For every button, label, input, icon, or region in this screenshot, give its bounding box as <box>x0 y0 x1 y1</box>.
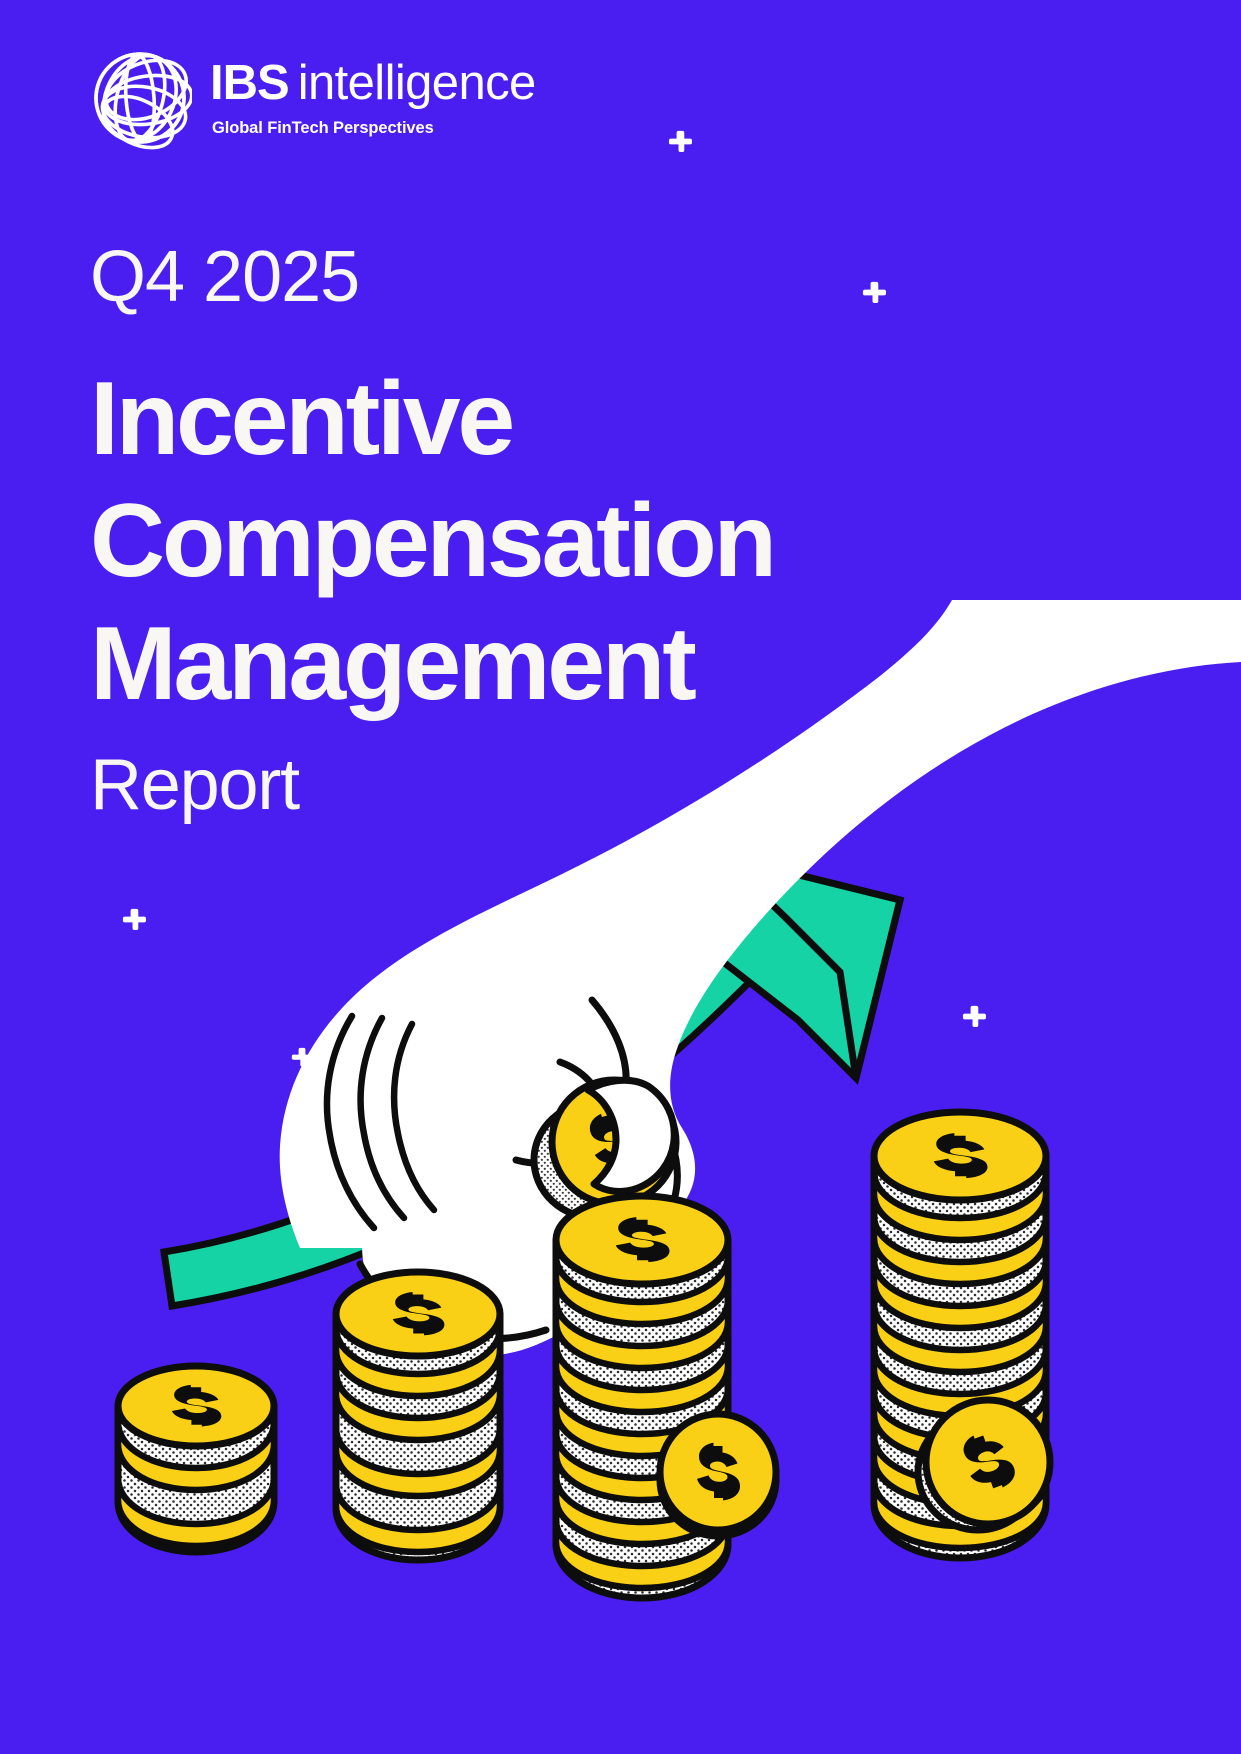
logo-text-group: IBS intelligence Global FinTech Perspect… <box>210 59 536 138</box>
globe-wireframe-icon <box>88 42 192 154</box>
cover-illustration <box>0 600 1241 1754</box>
brand-logo: IBS intelligence Global FinTech Perspect… <box>88 42 536 154</box>
logo-wordmark-light: intelligence <box>298 59 536 108</box>
loose-coin-left <box>660 1414 776 1536</box>
page-title-line-2: Compensation <box>90 480 1050 603</box>
coin-stack-tall <box>556 1196 728 1598</box>
plus-mark-1 <box>668 130 694 156</box>
bottom-edge-strip <box>0 1746 1241 1754</box>
report-cover: IBS intelligence Global FinTech Perspect… <box>0 0 1241 1754</box>
coin-stack-short <box>118 1366 274 1552</box>
coin-stack-medium <box>336 1272 500 1560</box>
page-title-line-1: Incentive <box>90 358 1050 481</box>
logo-wordmark: IBS intelligence <box>210 59 536 108</box>
logo-wordmark-bold: IBS <box>210 59 289 108</box>
report-quarter: Q4 2025 <box>90 240 1050 316</box>
logo-tagline: Global FinTech Perspectives <box>212 119 536 138</box>
